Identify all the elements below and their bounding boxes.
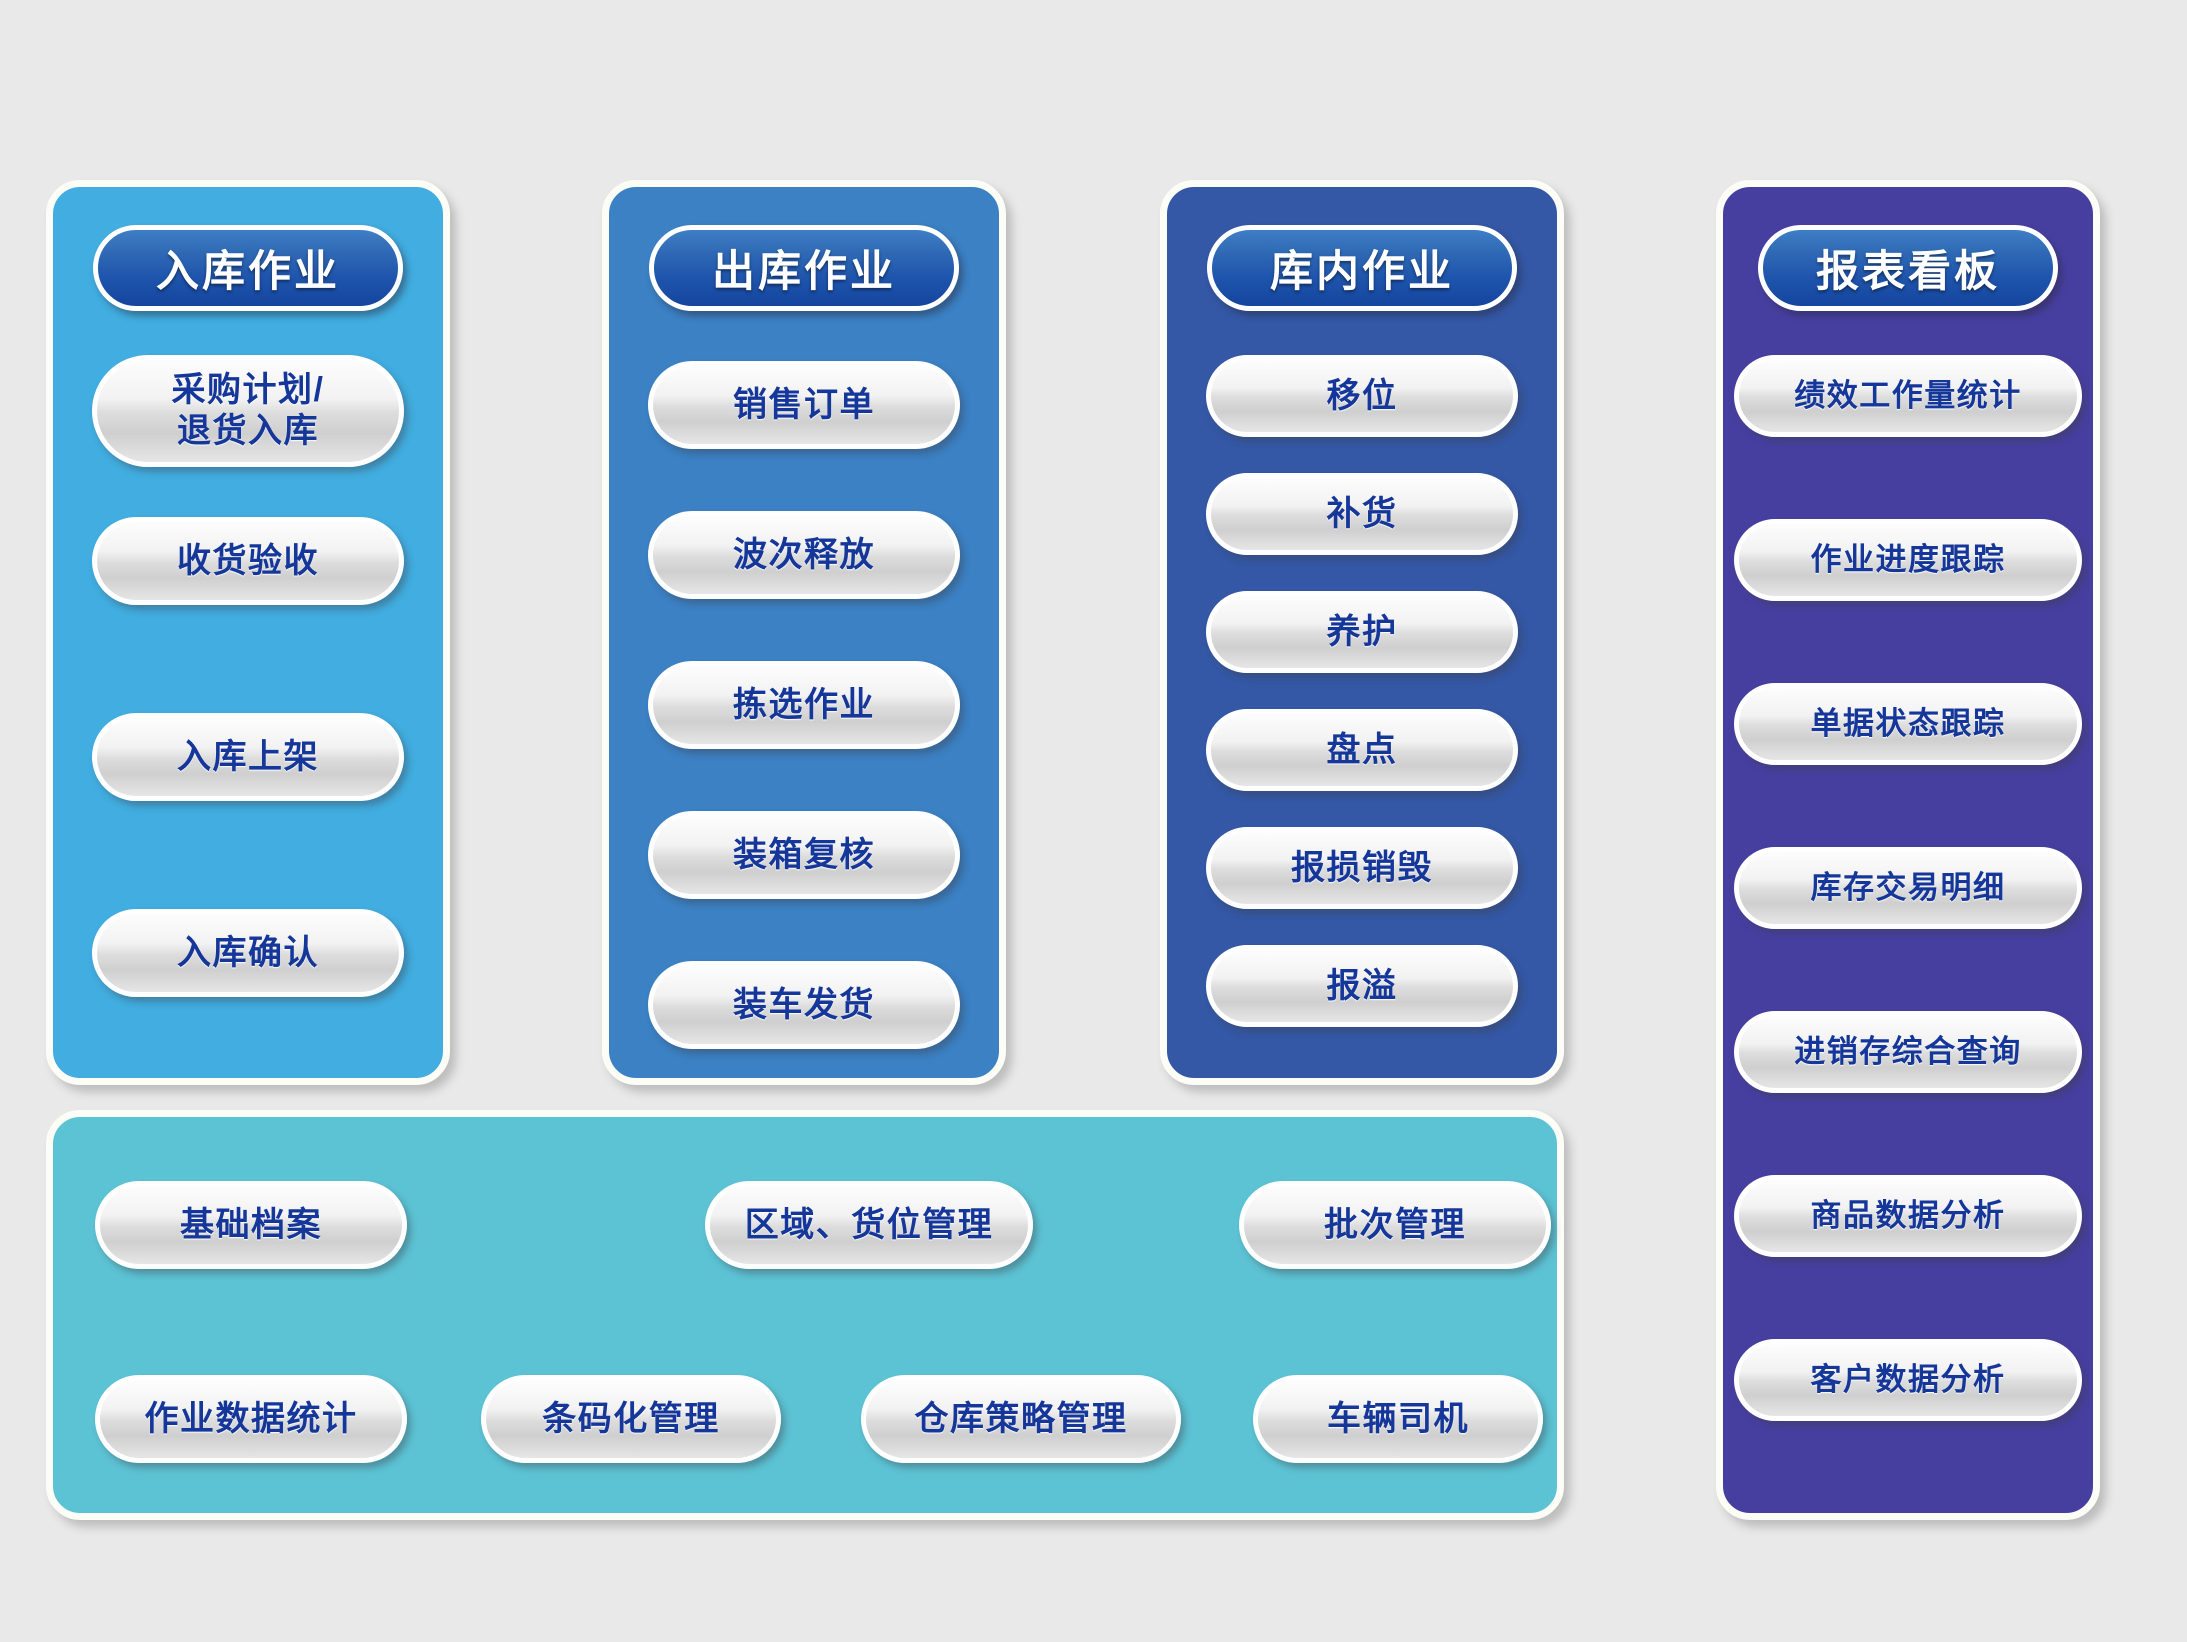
pill-replenishment[interactable]: 补货: [1206, 473, 1518, 555]
column-header-internal[interactable]: 库内作业: [1207, 225, 1517, 311]
pill-label: 作业数据统计: [145, 1399, 358, 1439]
pill-label: 批次管理: [1324, 1205, 1466, 1245]
pill-overage[interactable]: 报溢: [1206, 945, 1518, 1027]
pill-warehouse-strategy-management[interactable]: 仓库策略管理: [861, 1375, 1181, 1463]
pill-performance-workload-stats[interactable]: 绩效工作量统计: [1734, 355, 2082, 437]
pill-label-line2: 退货入库: [177, 411, 319, 452]
pill-receiving-inspection[interactable]: 收货验收: [92, 517, 404, 605]
pill-basic-archive[interactable]: 基础档案: [95, 1181, 407, 1269]
pill-label: 收货验收: [177, 541, 319, 581]
pill-vehicle-driver[interactable]: 车辆司机: [1253, 1375, 1543, 1463]
column-header-outbound-label: 出库作业: [712, 237, 896, 299]
pill-operation-data-stats[interactable]: 作业数据统计: [95, 1375, 407, 1463]
pill-label: 装箱复核: [733, 835, 875, 875]
column-outbound: 出库作业 销售订单 波次释放 拣选作业 装箱复核 装车发货: [602, 180, 1006, 1085]
pill-label: 绩效工作量统计: [1794, 378, 2022, 415]
pill-zone-location-management[interactable]: 区域、货位管理: [705, 1181, 1033, 1269]
pill-inventory-comprehensive-query[interactable]: 进销存综合查询: [1734, 1011, 2082, 1093]
pill-label: 报溢: [1327, 966, 1398, 1006]
column-report: 报表看板 绩效工作量统计 作业进度跟踪 单据状态跟踪 库存交易明细 进销存综合查…: [1716, 180, 2100, 1520]
column-header-inbound[interactable]: 入库作业: [93, 225, 403, 311]
pill-label: 报损销毁: [1291, 848, 1433, 888]
pill-purchase-plan-return-inbound[interactable]: 采购计划/ 退货入库: [92, 355, 404, 467]
pill-label: 单据状态跟踪: [1811, 706, 2006, 743]
pill-wave-release[interactable]: 波次释放: [648, 511, 960, 599]
pill-label: 车辆司机: [1327, 1399, 1469, 1439]
pill-loading-shipment[interactable]: 装车发货: [648, 961, 960, 1049]
pill-product-data-analysis[interactable]: 商品数据分析: [1734, 1175, 2082, 1257]
pill-label: 销售订单: [733, 385, 875, 425]
pill-label: 商品数据分析: [1811, 1198, 2006, 1235]
pill-label: 拣选作业: [733, 685, 875, 725]
pill-maintenance[interactable]: 养护: [1206, 591, 1518, 673]
column-header-outbound[interactable]: 出库作业: [649, 225, 959, 311]
pill-label: 入库确认: [177, 933, 319, 973]
pill-loss-destruction[interactable]: 报损销毁: [1206, 827, 1518, 909]
pill-sales-order[interactable]: 销售订单: [648, 361, 960, 449]
pill-inventory-transaction-detail[interactable]: 库存交易明细: [1734, 847, 2082, 929]
pill-label-line1: 采购计划/: [172, 370, 325, 411]
pill-inbound-putaway[interactable]: 入库上架: [92, 713, 404, 801]
pill-label: 进销存综合查询: [1794, 1034, 2022, 1071]
column-header-internal-label: 库内作业: [1270, 237, 1454, 299]
column-internal: 库内作业 移位 补货 养护 盘点 报损销毁 报溢: [1160, 180, 1564, 1085]
pill-packing-review[interactable]: 装箱复核: [648, 811, 960, 899]
pill-task-progress-tracking[interactable]: 作业进度跟踪: [1734, 519, 2082, 601]
pill-label: 盘点: [1327, 730, 1398, 770]
pill-stocktaking[interactable]: 盘点: [1206, 709, 1518, 791]
panel-basic-data: 基础档案 区域、货位管理 批次管理 作业数据统计 条码化管理 仓库策略管理 车辆…: [46, 1110, 1564, 1520]
column-inbound: 入库作业 采购计划/ 退货入库 收货验收 入库上架 入库确认: [46, 180, 450, 1085]
pill-label: 补货: [1327, 494, 1398, 534]
pill-relocation[interactable]: 移位: [1206, 355, 1518, 437]
pill-label: 作业进度跟踪: [1811, 542, 2006, 579]
pill-label: 库存交易明细: [1811, 870, 2006, 907]
pill-label: 波次释放: [733, 535, 875, 575]
column-header-report-label: 报表看板: [1816, 237, 2000, 299]
pill-label: 条码化管理: [542, 1399, 720, 1439]
column-header-report[interactable]: 报表看板: [1758, 225, 2058, 311]
pill-label: 仓库策略管理: [915, 1399, 1128, 1439]
pill-batch-management[interactable]: 批次管理: [1239, 1181, 1551, 1269]
diagram-canvas: 入库作业 采购计划/ 退货入库 收货验收 入库上架 入库确认 出库作业 销售订单…: [0, 0, 2187, 1642]
pill-document-status-tracking[interactable]: 单据状态跟踪: [1734, 683, 2082, 765]
pill-inbound-confirm[interactable]: 入库确认: [92, 909, 404, 997]
pill-label: 养护: [1327, 612, 1398, 652]
pill-barcode-management[interactable]: 条码化管理: [481, 1375, 781, 1463]
pill-label: 基础档案: [180, 1205, 322, 1245]
pill-label: 区域、货位管理: [745, 1205, 994, 1245]
pill-label: 装车发货: [733, 985, 875, 1025]
column-header-inbound-label: 入库作业: [156, 237, 340, 299]
pill-label: 移位: [1327, 376, 1398, 416]
pill-label: 客户数据分析: [1811, 1362, 2006, 1399]
pill-label: 入库上架: [177, 737, 319, 777]
pill-customer-data-analysis[interactable]: 客户数据分析: [1734, 1339, 2082, 1421]
pill-picking-task[interactable]: 拣选作业: [648, 661, 960, 749]
